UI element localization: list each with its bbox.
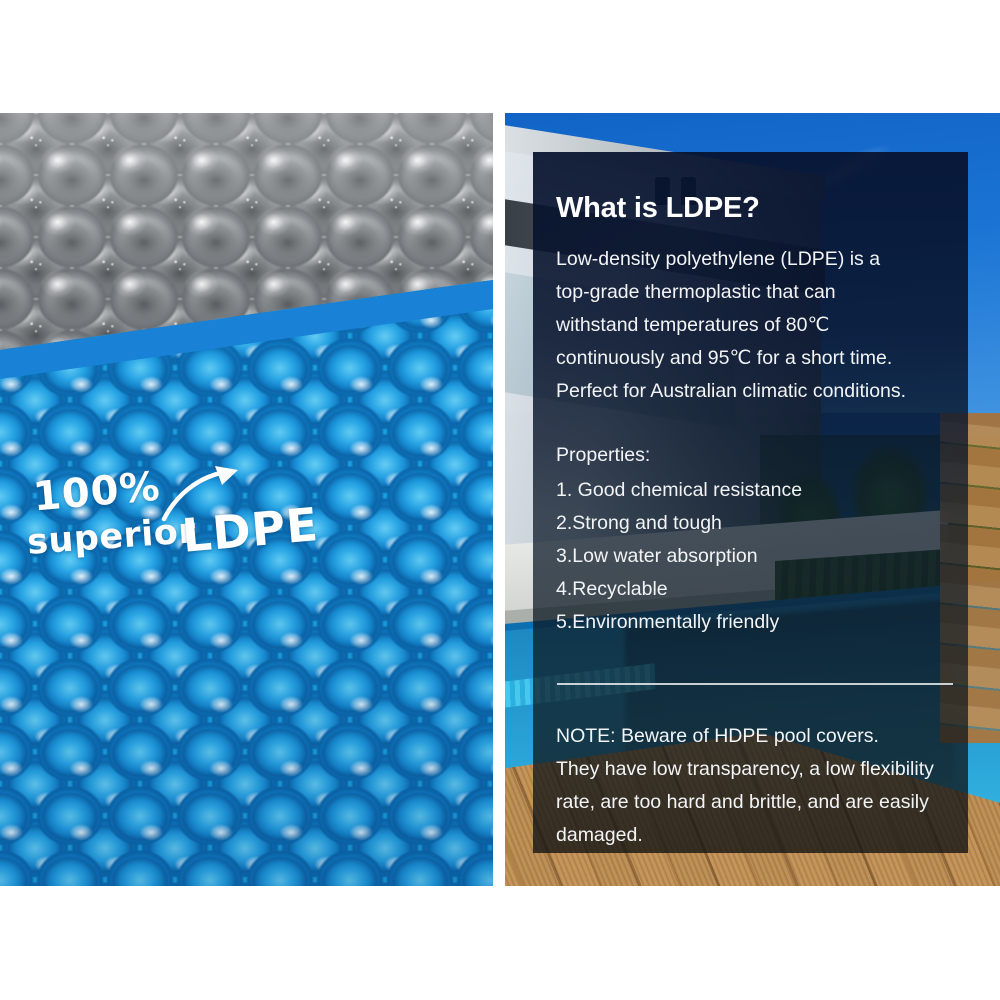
list-item: 4.Recyclable [556, 573, 954, 606]
infographic-canvas: 100% superior LDPE What is LDP [0, 0, 1000, 1000]
ldpe-info-card: What is LDPE? Low-density polyethylene (… [533, 152, 968, 853]
list-item: 1. Good chemical resistance [556, 474, 954, 507]
section-divider [557, 683, 953, 685]
properties-label: Properties: [556, 444, 650, 467]
list-item: 2.Strong and tough [556, 507, 954, 540]
card-heading: What is LDPE? [556, 192, 760, 225]
right-info-panel: What is LDPE? Low-density polyethylene (… [505, 113, 1000, 886]
left-product-image-panel: 100% superior LDPE [0, 113, 493, 886]
list-item: 3.Low water absorption [556, 540, 954, 573]
list-item: 5.Environmentally friendly [556, 606, 954, 639]
card-note-paragraph: NOTE: Beware of HDPE pool covers. They h… [556, 720, 958, 852]
card-intro-paragraph: Low-density polyethylene (LDPE) is a top… [556, 243, 954, 408]
properties-list: 1. Good chemical resistance 2.Strong and… [556, 474, 954, 639]
